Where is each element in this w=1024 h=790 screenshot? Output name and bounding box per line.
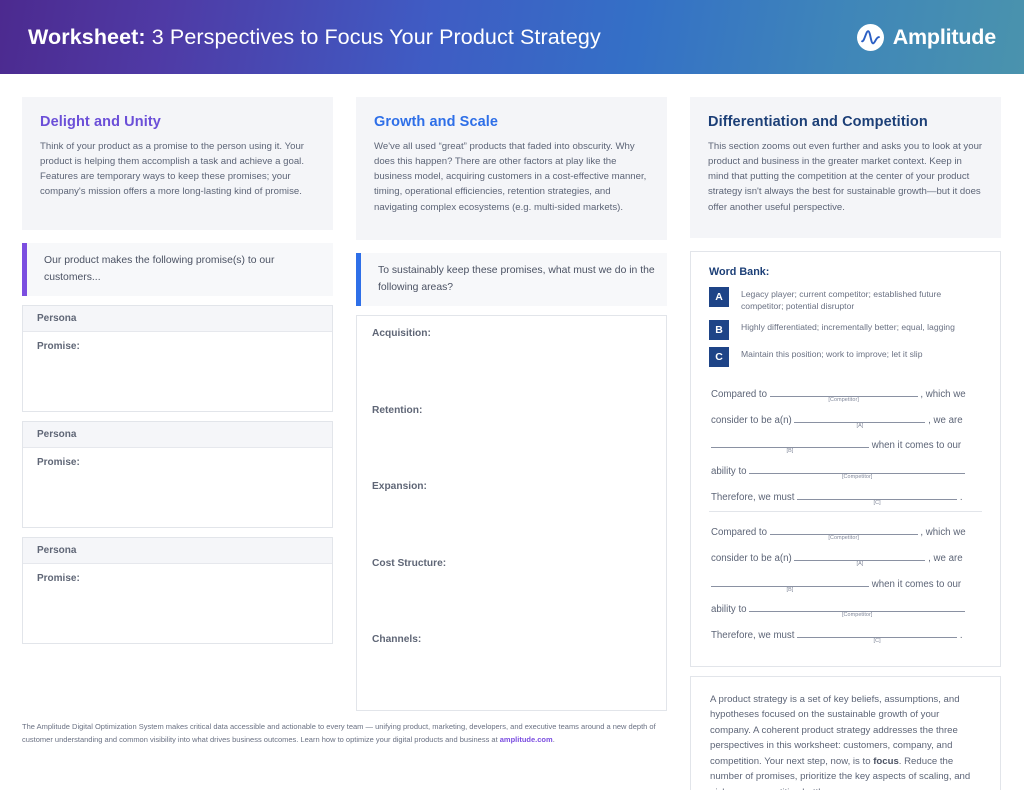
blank-rule[interactable] [770, 524, 918, 535]
persona-header: Persona [23, 306, 332, 332]
amplitude-logo-icon [857, 24, 884, 51]
blank-competitor[interactable]: [Competitor] [770, 386, 918, 397]
persona-header: Persona [23, 538, 332, 564]
blank-tag: [C] [797, 501, 957, 507]
fill-text-after: when it comes to our [869, 579, 961, 590]
intro-card-differentiation: Differentiation and Competition This sec… [690, 97, 1001, 238]
blank-tag: [Competitor] [770, 536, 918, 542]
fill-text-after: , which we [918, 389, 966, 400]
blank-b[interactable]: [B] [711, 576, 869, 587]
word-bank-text-a: Legacy player; current competitor; estab… [729, 287, 982, 313]
fill-in-block[interactable]: Compared to [Competitor] , which we cons… [709, 512, 982, 649]
blank-rule[interactable] [797, 627, 957, 638]
fill-text-after: , which we [918, 527, 966, 538]
word-bank-badge-a: A [709, 287, 729, 307]
persona-box[interactable]: Persona Promise: [22, 421, 333, 528]
word-bank-title: Word Bank: [709, 266, 982, 278]
fill-line[interactable]: Therefore, we must [C] . [711, 627, 980, 642]
blank-tag: [A] [794, 424, 925, 430]
fill-text-before: Compared to [711, 389, 770, 400]
fill-line[interactable]: consider to be a(n) [A] , we are [711, 412, 980, 427]
field-label-channels: Channels: [372, 634, 651, 645]
fill-text-before: consider to be a(n) [711, 415, 794, 426]
footer-part-2: . [553, 735, 555, 744]
fill-text-after: . [957, 492, 962, 503]
promise-label: Promise: [37, 573, 318, 584]
field-row-expansion[interactable]: Expansion: [372, 481, 651, 558]
blank-tag: [Competitor] [749, 613, 965, 619]
intro-title-growth: Growth and Scale [374, 114, 649, 130]
blank-rule[interactable] [749, 601, 965, 612]
column-growth-and-scale: Growth and Scale We've all used “great” … [356, 97, 667, 711]
footer-text: The Amplitude Digital Optimization Syste… [22, 721, 667, 747]
promise-label: Promise: [37, 341, 318, 352]
blank-competitor-2[interactable]: [Competitor] [749, 463, 965, 474]
word-bank-text-b: Highly differentiated; incrementally bet… [729, 320, 955, 333]
field-row-cost-structure[interactable]: Cost Structure: [372, 558, 651, 635]
fill-text-before: Compared to [711, 527, 770, 538]
intro-title-differentiation: Differentiation and Competition [708, 114, 983, 130]
amplitude-website-link[interactable]: amplitude.com [500, 735, 553, 744]
fill-text-before: ability to [711, 604, 749, 615]
fill-line[interactable]: [B] when it comes to our [711, 576, 980, 591]
blank-rule[interactable] [797, 489, 957, 500]
word-bank-card: Word Bank: A Legacy player; current comp… [690, 251, 1001, 667]
word-bank-badge-c: C [709, 347, 729, 367]
field-row-acquisition[interactable]: Acquisition: [372, 328, 651, 405]
prompt-bar-growth: To sustainably keep these promises, what… [356, 253, 667, 306]
summary-bold-word: focus [873, 756, 899, 767]
field-row-retention[interactable]: Retention: [372, 405, 651, 482]
blank-c[interactable]: [C] [797, 627, 957, 638]
fill-line[interactable]: ability to [Competitor] [711, 601, 980, 616]
blank-rule[interactable] [711, 576, 869, 587]
brand-logo: Amplitude [857, 24, 996, 51]
column-delight-and-unity: Delight and Unity Think of your product … [22, 97, 333, 644]
blank-tag: [Competitor] [749, 475, 965, 481]
intro-body-growth: We've all used “great” products that fad… [374, 139, 649, 215]
fill-line[interactable]: ability to [Competitor] [711, 463, 980, 478]
fill-line[interactable]: Compared to [Competitor] , which we [711, 386, 980, 401]
prompt-text-growth: To sustainably keep these promises, what… [361, 253, 667, 305]
intro-card-delight: Delight and Unity Think of your product … [22, 97, 333, 230]
fill-text-after: , we are [925, 553, 962, 564]
blank-competitor-2[interactable]: [Competitor] [749, 601, 965, 612]
fill-text-before: ability to [711, 466, 749, 477]
blank-b[interactable]: [B] [711, 437, 869, 448]
blank-tag: [C] [797, 639, 957, 645]
blank-rule[interactable] [749, 463, 965, 474]
word-bank-badge-b: B [709, 320, 729, 340]
field-label-cost-structure: Cost Structure: [372, 558, 651, 569]
prompt-bar-delight: Our product makes the following promise(… [22, 243, 333, 296]
fill-line[interactable]: Compared to [Competitor] , which we [711, 524, 980, 539]
promise-label: Promise: [37, 457, 318, 468]
blank-rule[interactable] [711, 437, 869, 448]
fill-line[interactable]: consider to be a(n) [A] , we are [711, 550, 980, 565]
blank-c[interactable]: [C] [797, 489, 957, 500]
field-label-acquisition: Acquisition: [372, 328, 651, 339]
word-bank-item-c: C Maintain this position; work to improv… [709, 347, 982, 367]
blank-tag: [A] [794, 562, 925, 568]
footer: The Amplitude Digital Optimization Syste… [22, 721, 667, 747]
blank-a[interactable]: [A] [794, 412, 925, 423]
persona-header: Persona [23, 422, 332, 448]
fill-line[interactable]: Therefore, we must [C] . [711, 489, 980, 504]
persona-answer-area[interactable]: Promise: [23, 564, 332, 643]
blank-a[interactable]: [A] [794, 550, 925, 561]
footer-part-1: The Amplitude Digital Optimization Syste… [22, 722, 656, 744]
fill-text-before: Therefore, we must [711, 630, 797, 641]
fill-text-after: , we are [925, 415, 962, 426]
growth-fields-card[interactable]: Acquisition: Retention: Expansion: Cost … [356, 315, 667, 711]
persona-answer-area[interactable]: Promise: [23, 332, 332, 411]
prompt-text-delight: Our product makes the following promise(… [27, 243, 333, 295]
summary-text: A product strategy is a set of key belie… [710, 692, 981, 790]
page-title-strong: Worksheet: [28, 25, 146, 49]
brand-name: Amplitude [893, 25, 996, 50]
word-bank-item-a: A Legacy player; current competitor; est… [709, 287, 982, 313]
blank-tag: [B] [711, 588, 869, 594]
field-row-channels[interactable]: Channels: [372, 634, 651, 711]
page-title: Worksheet: 3 Perspectives to Focus Your … [28, 25, 601, 50]
fill-line[interactable]: [B] when it comes to our [711, 437, 980, 452]
fill-in-block[interactable]: Compared to [Competitor] , which we cons… [709, 374, 982, 511]
summary-card: A product strategy is a set of key belie… [690, 676, 1001, 790]
intro-body-differentiation: This section zooms out even further and … [708, 139, 983, 215]
field-label-retention: Retention: [372, 405, 651, 416]
blank-rule[interactable] [794, 550, 925, 561]
blank-rule[interactable] [770, 386, 918, 397]
blank-tag: [B] [711, 449, 869, 455]
persona-box[interactable]: Persona Promise: [22, 537, 333, 644]
page-title-light: 3 Perspectives to Focus Your Product Str… [146, 25, 601, 49]
blank-tag: [Competitor] [770, 398, 918, 404]
word-bank-text-c: Maintain this position; work to improve;… [729, 347, 923, 360]
blank-rule[interactable] [794, 412, 925, 423]
fill-text-before: consider to be a(n) [711, 553, 794, 564]
intro-title-delight: Delight and Unity [40, 114, 315, 130]
intro-body-delight: Think of your product as a promise to th… [40, 139, 315, 200]
fill-text-before: Therefore, we must [711, 492, 797, 503]
fill-text-after: . [957, 630, 962, 641]
fill-text-after: when it comes to our [869, 440, 961, 451]
persona-box[interactable]: Persona Promise: [22, 305, 333, 412]
intro-card-growth: Growth and Scale We've all used “great” … [356, 97, 667, 240]
worksheet-page: Worksheet: 3 Perspectives to Focus Your … [0, 0, 1024, 790]
page-header: Worksheet: 3 Perspectives to Focus Your … [0, 0, 1024, 74]
blank-competitor[interactable]: [Competitor] [770, 524, 918, 535]
column-differentiation-and-competition: Differentiation and Competition This sec… [690, 97, 1001, 790]
word-bank-item-b: B Highly differentiated; incrementally b… [709, 320, 982, 340]
field-label-expansion: Expansion: [372, 481, 651, 492]
persona-answer-area[interactable]: Promise: [23, 448, 332, 527]
